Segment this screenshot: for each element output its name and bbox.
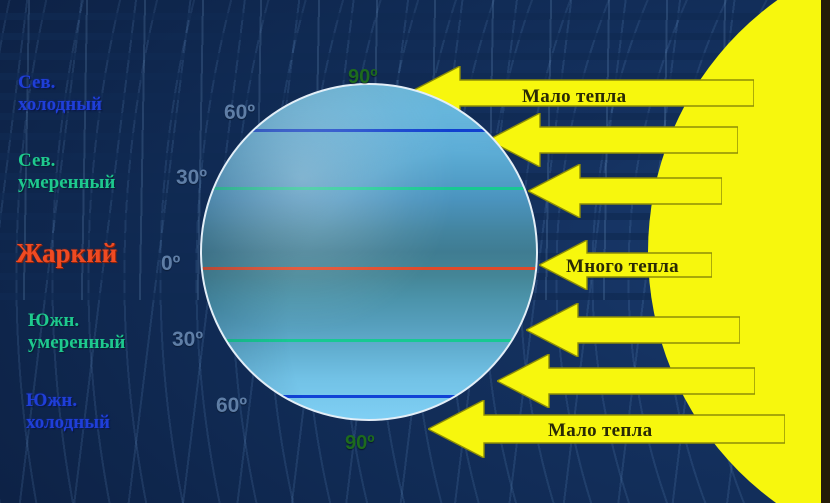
degree-label-60-north: 60º — [224, 101, 255, 125]
globe-shading — [202, 85, 536, 419]
caption-little-heat-top: Мало тепла — [522, 86, 626, 108]
zone-label-hot: Жаркий — [16, 238, 117, 270]
degree-label-equator: 0º — [161, 252, 180, 276]
heat-ray-2 — [488, 113, 738, 167]
latitude-line-30-north — [202, 187, 536, 190]
latitude-line-60-north — [202, 129, 536, 132]
zone-label-northern-cold: Сев. холодный — [18, 72, 102, 117]
zone-label-northern-temperate: Сев. умеренный — [18, 150, 115, 195]
zone-label-southern-cold: Южн. холодный — [26, 390, 110, 435]
degree-label-30-north: 30º — [176, 166, 207, 190]
earth-globe — [200, 83, 538, 421]
heat-zones-diagram: 60º30º0º30º60º90º90º Сев. холодныйСев. у… — [0, 0, 830, 503]
zone-label-southern-temperate: Южн. умеренный — [28, 310, 125, 355]
latitude-line-60-south — [202, 395, 536, 398]
heat-ray-5 — [526, 303, 740, 357]
heat-ray-3 — [528, 164, 722, 218]
right-edge-border — [821, 0, 830, 503]
degree-label-south-pole: 90º — [345, 432, 375, 455]
latitude-line-equator — [202, 267, 536, 270]
degree-label-30-south: 30º — [172, 328, 203, 352]
caption-much-heat: Много тепла — [566, 256, 679, 278]
degree-label-north-pole: 90º — [348, 66, 378, 89]
latitude-line-30-south — [202, 339, 536, 342]
degree-label-60-south: 60º — [216, 394, 247, 418]
caption-little-heat-bottom: Мало тепла — [548, 420, 652, 442]
